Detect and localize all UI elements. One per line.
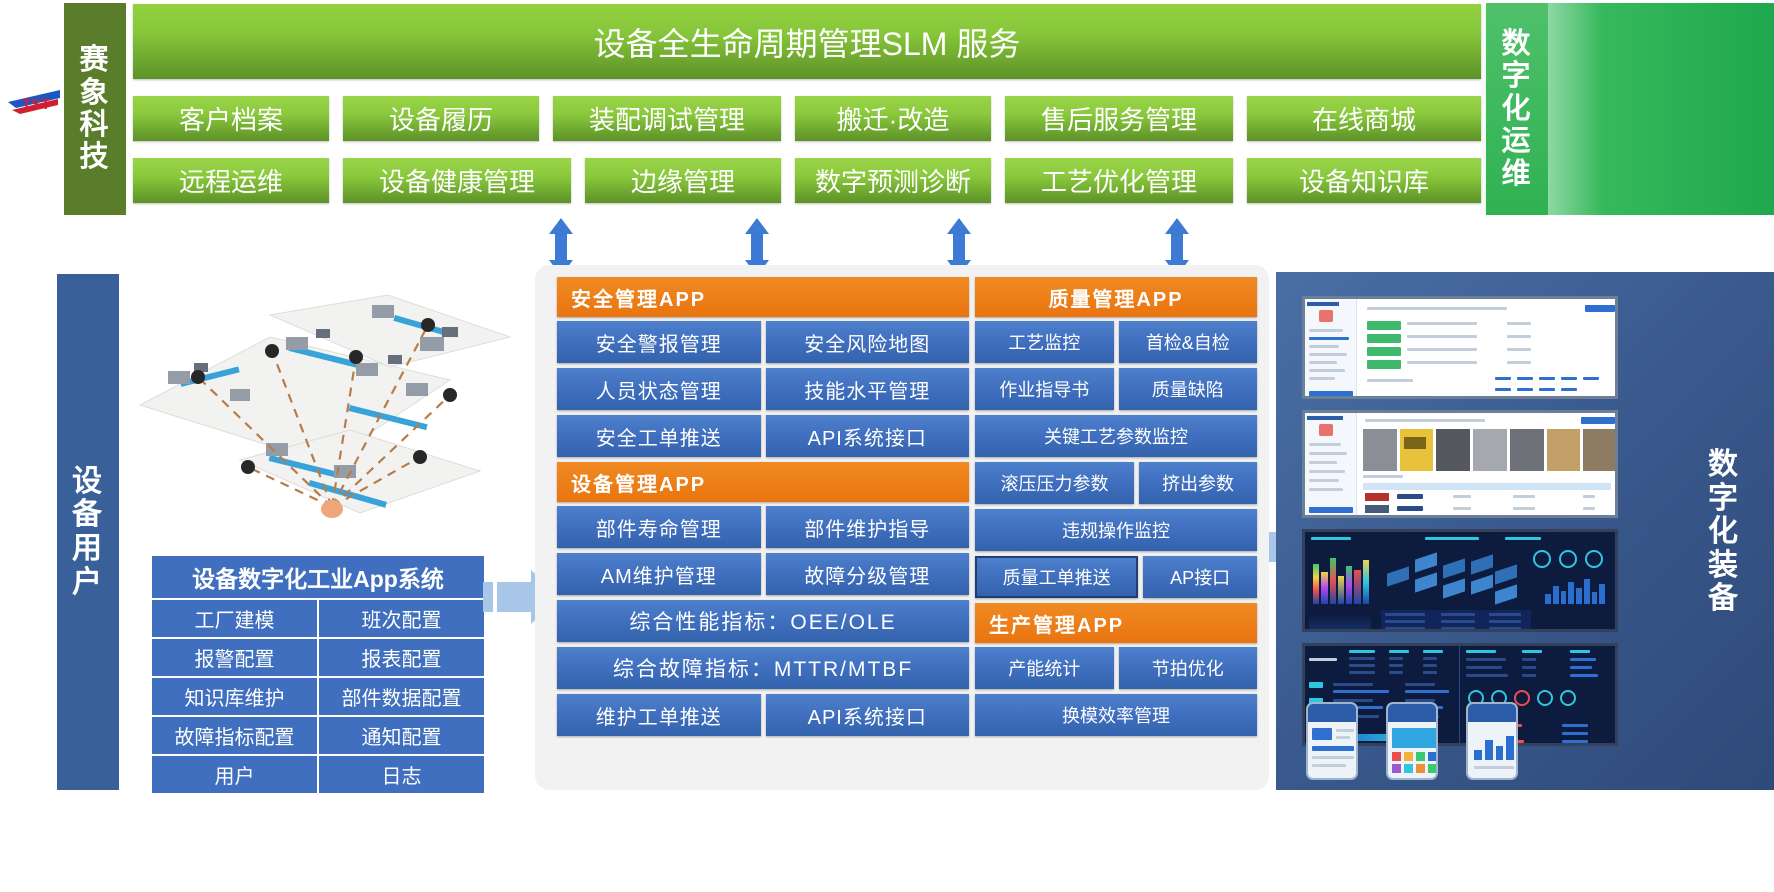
chip-am-maintenance-mgmt[interactable]: AM维护管理: [557, 553, 761, 595]
safety-row-1: 安全警报管理 安全风险地图: [557, 321, 969, 363]
chip-extrusion-param[interactable]: 挤出参数: [1139, 462, 1257, 504]
table-row: 用户 日志: [152, 754, 484, 793]
chip-quality-defect[interactable]: 质量缺陷: [1119, 368, 1258, 410]
chip-quality-workorder-push[interactable]: 质量工单推送: [975, 556, 1138, 598]
device-user-char-3: 用: [72, 532, 104, 566]
factory-3d-illustration: [120, 285, 520, 560]
digital-ops-char-2: 字: [1501, 60, 1532, 92]
digital-equip-char-5: 备: [1708, 582, 1740, 616]
chip-work-instruction[interactable]: 作业指导书: [975, 368, 1114, 410]
chip-mttr-mtbf-indicator[interactable]: 综合故障指标：MTTR/MTBF: [557, 647, 969, 689]
chip-personnel-status-mgmt[interactable]: 人员状态管理: [557, 368, 761, 410]
slm-service-row-2: 远程运维 设备健康管理 边缘管理 数字预测诊断 工艺优化管理 设备知识库: [133, 158, 1481, 203]
device-user-char-2: 备: [72, 498, 104, 532]
safety-row-3: 安全工单推送 API系统接口: [557, 415, 969, 457]
brand-char-1: 赛: [79, 44, 110, 76]
chip-oee-ole-indicator[interactable]: 综合性能指标：OEE/OLE: [557, 600, 969, 642]
cell-notification-config[interactable]: 通知配置: [317, 717, 484, 754]
digital-app-system-table: 设备数字化工业App系统 工厂建模 班次配置 报警配置 报表配置 知识库维护 部…: [152, 556, 484, 793]
phone-mockup-1: [1306, 702, 1358, 780]
page-title: 设备全生命周期管理SLM 服务: [133, 4, 1481, 79]
svg-text:TST: TST: [22, 96, 50, 113]
quality-row-key-param: 关键工艺参数监控: [975, 415, 1257, 457]
cell-knowledge-maintenance[interactable]: 知识库维护: [152, 678, 317, 715]
production-app-header: 生产管理APP: [975, 603, 1257, 643]
cell-alarm-config[interactable]: 报警配置: [152, 639, 317, 676]
quality-app-header: 质量管理APP: [975, 277, 1257, 317]
cell-fault-index-config[interactable]: 故障指标配置: [152, 717, 317, 754]
chip-first-self-inspection[interactable]: 首检&自检: [1119, 321, 1258, 363]
cell-part-data-config[interactable]: 部件数据配置: [317, 678, 484, 715]
device-user-sidebar: 设 备 用 户: [57, 274, 119, 790]
digital-ops-sidebar: 数 字 化 运 维: [1486, 3, 1548, 215]
equipment-row-1: 部件寿命管理 部件维护指导: [557, 506, 969, 548]
device-user-char-1: 设: [72, 465, 104, 499]
cell-report-config[interactable]: 报表配置: [317, 639, 484, 676]
brand-char-4: 技: [79, 141, 110, 173]
digital-ops-char-1: 数: [1501, 28, 1532, 60]
green-chip-remote-ops[interactable]: 远程运维: [133, 158, 329, 203]
brand-char-2: 象: [79, 77, 110, 109]
quality-row-2: 作业指导书 质量缺陷: [975, 368, 1257, 410]
green-chip-online-mall[interactable]: 在线商城: [1247, 96, 1481, 141]
digital-equip-char-4: 装: [1708, 549, 1740, 583]
equipment-app-header: 设备管理APP: [557, 462, 969, 502]
table-row: 故障指标配置 通知配置: [152, 715, 484, 754]
app-column-right: 质量管理APP 工艺监控 首检&自检 作业指导书 质量缺陷 关键工艺参数监控 滚…: [975, 277, 1257, 741]
chip-skill-level-mgmt[interactable]: 技能水平管理: [766, 368, 970, 410]
chip-safety-alarm-mgmt[interactable]: 安全警报管理: [557, 321, 761, 363]
industrial-app-panel: 安全管理APP 安全警报管理 安全风险地图 人员状态管理 技能水平管理 安全工单…: [535, 265, 1269, 790]
appsys-title: 设备数字化工业App系统: [152, 556, 484, 598]
chip-quality-ap-interface[interactable]: AP接口: [1143, 556, 1257, 598]
brand-char-3: 科: [79, 109, 110, 141]
chip-violation-operation-monitoring[interactable]: 违规操作监控: [975, 509, 1257, 551]
chip-safety-risk-map[interactable]: 安全风险地图: [766, 321, 970, 363]
digital-equip-char-1: 数: [1708, 448, 1740, 482]
phone-mockup-2: [1386, 702, 1438, 780]
chip-safety-api-interface[interactable]: API系统接口: [766, 415, 970, 457]
screenshot-quality-cards: [1302, 410, 1618, 518]
quality-row-violation: 违规操作监控: [975, 509, 1257, 551]
equipment-row-last: 维护工单推送 API系统接口: [557, 694, 969, 736]
cell-log[interactable]: 日志: [317, 756, 484, 793]
chip-maintenance-workorder-push[interactable]: 维护工单推送: [557, 694, 761, 736]
chip-key-process-param-monitoring[interactable]: 关键工艺参数监控: [975, 415, 1257, 457]
production-row-1: 产能统计 节拍优化: [975, 647, 1257, 689]
green-chip-equipment-health[interactable]: 设备健康管理: [343, 158, 571, 203]
digital-ops-char-4: 运: [1501, 125, 1532, 157]
green-chip-predictive-diagnosis[interactable]: 数字预测诊断: [795, 158, 991, 203]
digital-ops-char-3: 化: [1501, 93, 1532, 125]
equipment-row-mttr: 综合故障指标：MTTR/MTBF: [557, 647, 969, 689]
screenshot-equipment-list: [1302, 296, 1618, 399]
digital-equip-char-3: 化: [1708, 515, 1740, 549]
chip-equipment-api-interface[interactable]: API系统接口: [766, 694, 970, 736]
equipment-row-2: AM维护管理 故障分级管理: [557, 553, 969, 595]
table-row: 工厂建模 班次配置: [152, 598, 484, 637]
chip-fault-grading-mgmt[interactable]: 故障分级管理: [766, 553, 970, 595]
green-chip-process-optimization[interactable]: 工艺优化管理: [1005, 158, 1233, 203]
screenshot-3d-dashboard: [1302, 529, 1618, 632]
green-chip-equipment-history[interactable]: 设备履历: [343, 96, 539, 141]
green-chip-edge-management[interactable]: 边缘管理: [585, 158, 781, 203]
chip-part-life-mgmt[interactable]: 部件寿命管理: [557, 506, 761, 548]
green-chip-aftersales-service[interactable]: 售后服务管理: [1005, 96, 1233, 141]
table-row: 报警配置 报表配置: [152, 637, 484, 676]
tst-logo: TST: [6, 82, 62, 120]
phone-mockup-3: [1466, 702, 1518, 780]
chip-capacity-statistics[interactable]: 产能统计: [975, 647, 1114, 689]
green-chip-knowledge-base[interactable]: 设备知识库: [1247, 158, 1481, 203]
production-row-2: 换模效率管理: [975, 694, 1257, 736]
equipment-row-oee: 综合性能指标：OEE/OLE: [557, 600, 969, 642]
cell-user[interactable]: 用户: [152, 756, 317, 793]
quality-row-1: 工艺监控 首检&自检: [975, 321, 1257, 363]
digital-equipment-sidebar: 数 字 化 装 备: [1693, 274, 1755, 790]
digital-equip-char-2: 字: [1708, 482, 1740, 516]
chip-takt-optimization[interactable]: 节拍优化: [1119, 647, 1258, 689]
cell-shift-config[interactable]: 班次配置: [317, 600, 484, 637]
chip-rolling-pressure-param[interactable]: 滚压压力参数: [975, 462, 1134, 504]
slm-service-row-1: 客户档案 设备履历 装配调试管理 搬迁·改造 售后服务管理 在线商城: [133, 96, 1481, 141]
chip-part-maintenance-guide[interactable]: 部件维护指导: [766, 506, 970, 548]
device-user-char-4: 户: [72, 566, 104, 600]
cell-factory-modeling[interactable]: 工厂建模: [152, 600, 317, 637]
safety-row-2: 人员状态管理 技能水平管理: [557, 368, 969, 410]
quality-row-params: 滚压压力参数 挤出参数: [975, 462, 1257, 504]
quality-row-last: 质量工单推送 AP接口: [975, 556, 1257, 598]
app-column-left: 安全管理APP 安全警报管理 安全风险地图 人员状态管理 技能水平管理 安全工单…: [557, 277, 969, 741]
safety-app-header: 安全管理APP: [557, 277, 969, 317]
green-chip-assembly-debug[interactable]: 装配调试管理: [553, 96, 781, 141]
chip-process-monitoring[interactable]: 工艺监控: [975, 321, 1114, 363]
green-chip-customer-archive[interactable]: 客户档案: [133, 96, 329, 141]
chip-mold-change-efficiency[interactable]: 换模效率管理: [975, 694, 1257, 736]
green-chip-relocation-retrofit[interactable]: 搬迁·改造: [795, 96, 991, 141]
digital-ops-char-5: 维: [1501, 158, 1532, 190]
chip-safety-workorder-push[interactable]: 安全工单推送: [557, 415, 761, 457]
brand-sidebar: 赛 象 科 技: [64, 3, 126, 215]
table-row: 知识库维护 部件数据配置: [152, 676, 484, 715]
